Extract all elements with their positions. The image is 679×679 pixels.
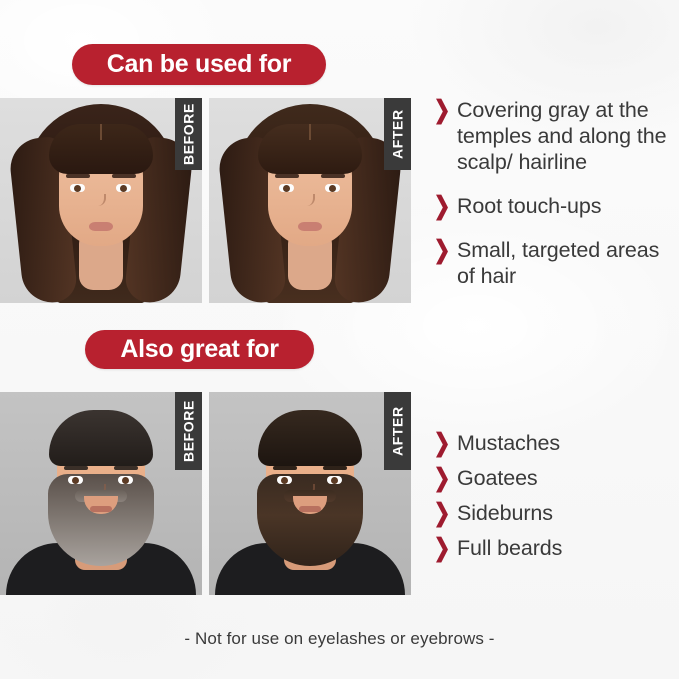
photo-man-before: BEFORE [0, 392, 202, 595]
photo-woman-after: AFTER [209, 98, 411, 303]
bullet-label: Root touch-ups [457, 193, 601, 219]
bullet-label: Sideburns [457, 500, 553, 526]
footer-disclaimer: - Not for use on eyelashes or eyebrows - [0, 629, 679, 649]
chevron-icon: ❯ [434, 237, 447, 263]
bullet-list-secondary: ❯ Mustaches ❯ Goatees ❯ Sideburns ❯ Full… [432, 430, 672, 570]
bullet-item: ❯ Mustaches [432, 430, 672, 456]
chevron-icon: ❯ [434, 465, 447, 491]
woman-before-illustration [0, 98, 202, 303]
bullet-label: Goatees [457, 465, 538, 491]
man-after-illustration [209, 392, 411, 595]
bullet-item: ❯ Small, targeted areas of hair [432, 237, 672, 289]
photo-row-women: BEFORE AFTER [0, 98, 411, 303]
chevron-icon: ❯ [434, 97, 447, 123]
bullet-label: Covering gray at the temples and along t… [457, 97, 672, 175]
label-before-men: BEFORE [175, 392, 202, 470]
chevron-icon: ❯ [434, 193, 447, 219]
bullet-list-primary: ❯ Covering gray at the temples and along… [432, 97, 672, 307]
man-before-illustration [0, 392, 202, 595]
bullet-label: Full beards [457, 535, 562, 561]
banner-also-great-for: Also great for [85, 330, 314, 369]
bullet-label: Mustaches [457, 430, 560, 456]
bullet-item: ❯ Root touch-ups [432, 193, 672, 219]
photo-row-men: BEFORE AFTER [0, 392, 411, 595]
bullet-item: ❯ Goatees [432, 465, 672, 491]
photo-woman-before: BEFORE [0, 98, 202, 303]
label-after-men: AFTER [384, 392, 411, 470]
woman-after-illustration [209, 98, 411, 303]
bullet-item: ❯ Sideburns [432, 500, 672, 526]
photo-man-after: AFTER [209, 392, 411, 595]
chevron-icon: ❯ [434, 430, 447, 456]
chevron-icon: ❯ [434, 500, 447, 526]
bullet-item: ❯ Covering gray at the temples and along… [432, 97, 672, 175]
label-after-women: AFTER [384, 98, 411, 170]
chevron-icon: ❯ [434, 535, 447, 561]
label-before-women: BEFORE [175, 98, 202, 170]
banner-can-be-used-for: Can be used for [72, 44, 326, 85]
bullet-item: ❯ Full beards [432, 535, 672, 561]
bullet-label: Small, targeted areas of hair [457, 237, 672, 289]
